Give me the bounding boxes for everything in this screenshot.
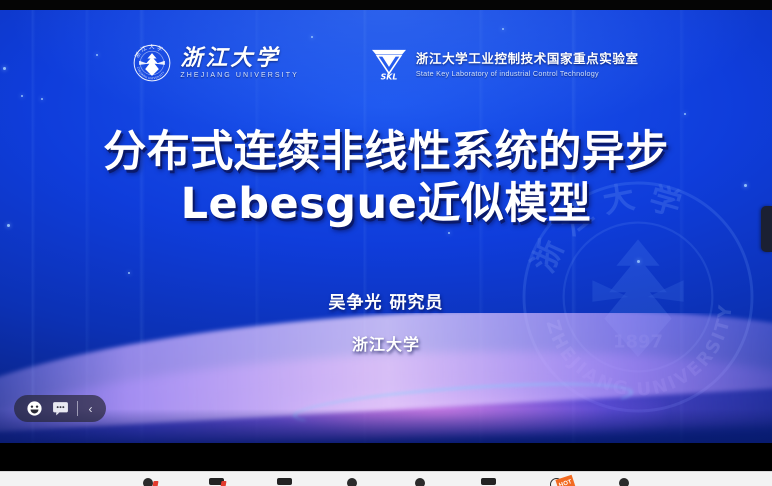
particle-dot — [128, 272, 130, 274]
particle-dot — [502, 28, 504, 30]
particle-dot — [21, 95, 23, 97]
window-top-chrome — [0, 0, 772, 10]
taskbar-app-3-icon[interactable] — [276, 478, 292, 486]
windows-taskbar[interactable]: HOT — [0, 471, 772, 486]
speaker-affiliation: 浙江大学 — [0, 331, 772, 355]
particle-dot — [637, 260, 640, 263]
slide-title: 分布式连续非线性系统的异步 Lebesgue近似模型 — [0, 126, 772, 231]
particle-dot — [684, 113, 686, 115]
svg-text:SKL: SKL — [381, 72, 398, 80]
particle-dot — [41, 98, 43, 100]
taskbar-app-1-icon[interactable] — [140, 478, 156, 486]
slide-title-line-2: Lebesgue近似模型 — [0, 178, 772, 230]
taskbar-app-8-icon[interactable] — [616, 478, 632, 486]
reaction-toolbar[interactable]: ‹ — [14, 395, 106, 422]
zju-name-en: ZHEJIANG UNIVERSITY — [180, 72, 298, 79]
taskbar-app-4-icon[interactable] — [344, 478, 360, 486]
particle-dot — [311, 36, 313, 38]
slide-logo-row: 浙 江 大 学 ZHEJIANG UNIVERSITY 浙江大学 ZHEJIAN… — [0, 44, 772, 82]
letterbox-band — [0, 443, 772, 471]
zju-name-cn: 浙江大学 — [180, 47, 280, 70]
skl-name-en: State Key Laboratory of industrial Contr… — [416, 69, 639, 78]
chat-bubble-icon[interactable] — [47, 395, 73, 422]
toolbar-divider — [77, 401, 78, 416]
presentation-slide[interactable]: 浙 江 大 学 ZHEJIANG UNIVERSITY 1897 — [0, 10, 772, 443]
collapse-chevron-icon[interactable]: ‹ — [82, 395, 99, 422]
particle-dot — [448, 232, 450, 234]
skl-mark-icon: SKL — [369, 46, 409, 80]
zhejiang-university-logo: 浙 江 大 学 ZHEJIANG UNIVERSITY 浙江大学 ZHEJIAN… — [133, 44, 298, 82]
state-key-lab-logo: SKL 浙江大学工业控制技术国家重点实验室 State Key Laborato… — [369, 46, 639, 80]
screen: 浙 江 大 学 ZHEJIANG UNIVERSITY 1897 — [0, 0, 772, 486]
zju-seal-icon: 浙 江 大 学 ZHEJIANG UNIVERSITY — [133, 44, 171, 82]
slide-title-line-1: 分布式连续非线性系统的异步 — [0, 126, 772, 178]
taskbar-app-5-icon[interactable] — [412, 478, 428, 486]
slide-speaker-block: 吴争光 研究员 浙江大学 — [0, 288, 772, 355]
side-panel-handle[interactable] — [761, 206, 772, 252]
smiley-reaction-icon[interactable] — [21, 395, 47, 422]
hot-badge: HOT — [555, 475, 575, 486]
speaker-name: 吴争光 研究员 — [0, 288, 772, 313]
taskbar-app-7-icon[interactable]: HOT — [548, 478, 564, 486]
taskbar-app-6-icon[interactable] — [480, 478, 496, 486]
skl-name-cn: 浙江大学工业控制技术国家重点实验室 — [416, 48, 639, 67]
taskbar-app-2-icon[interactable] — [208, 478, 224, 486]
